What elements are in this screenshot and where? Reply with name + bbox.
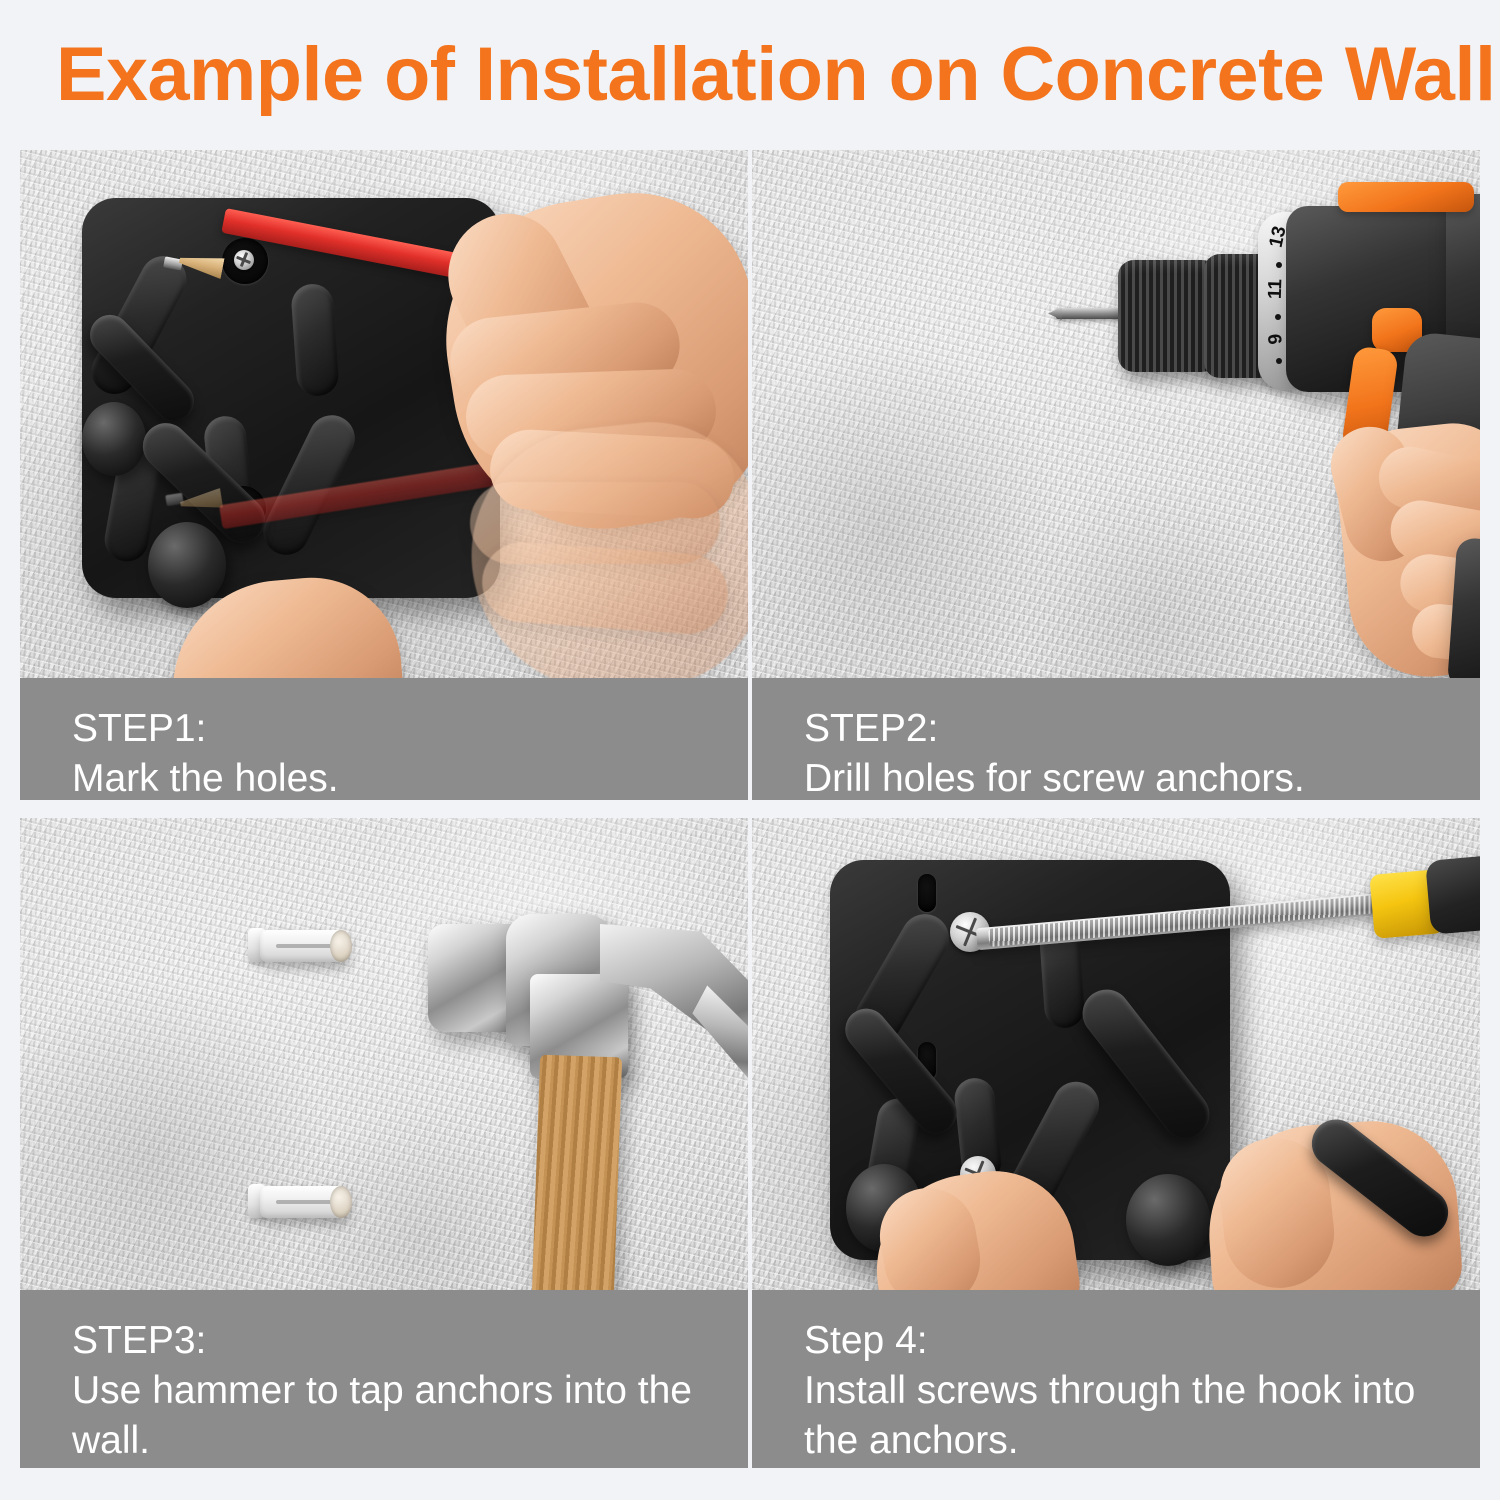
step-2-text: Drill holes for screw anchors. — [804, 754, 1480, 800]
step-3-caption: STEP3: Use hammer to tap anchors into th… — [20, 1290, 748, 1468]
step-2-caption: STEP2: Drill holes for screw anchors. — [752, 678, 1480, 800]
step-3-photo — [20, 818, 748, 1290]
anchor-slit — [276, 1200, 338, 1204]
step-4-photo — [752, 818, 1480, 1290]
anchor-bore-lower — [330, 1186, 352, 1218]
step-panel-1: STEP1: Mark the holes. — [20, 150, 748, 800]
concrete-wall-texture — [20, 818, 748, 1290]
step-4-caption: Step 4: Install screws through the hook … — [752, 1290, 1480, 1468]
clutch-number-11: 11 — [1265, 279, 1288, 300]
step-panel-2: 13 11 9 STEP2: Drill — [752, 150, 1480, 800]
step-3-text: Use hammer to tap anchors into the wall. — [72, 1366, 748, 1466]
step-panel-4: Step 4: Install screws through the hook … — [752, 818, 1480, 1468]
anchor-bore-upper — [330, 930, 352, 962]
page-title: Example of Installation on Concrete Wall — [56, 30, 1439, 120]
step-4-label: Step 4: — [804, 1316, 1480, 1366]
clutch-dot — [1276, 262, 1282, 268]
hammer-handle — [532, 1055, 622, 1290]
step-1-label: STEP1: — [72, 704, 748, 754]
step-1-photo — [20, 150, 748, 678]
step-4-text: Install screws through the hook into the… — [804, 1366, 1480, 1466]
hook-knob-lower — [148, 522, 226, 608]
anchor-slit — [276, 944, 338, 948]
step-1-text: Mark the holes. — [72, 754, 748, 800]
steps-grid: STEP1: Mark the holes. 13 11 9 — [20, 150, 1480, 1468]
hook-knob-upper — [82, 402, 146, 476]
drill-bit — [1056, 308, 1122, 319]
step-panel-3: STEP3: Use hammer to tap anchors into th… — [20, 818, 748, 1468]
hook-knob-right — [1126, 1174, 1210, 1266]
marking-point-top — [234, 250, 254, 270]
clutch-dot — [1276, 358, 1282, 364]
step-1-caption: STEP1: Mark the holes. — [20, 678, 748, 800]
step-3-label: STEP3: — [72, 1316, 748, 1366]
step-2-label: STEP2: — [804, 704, 1480, 754]
ghost-finger — [480, 540, 731, 637]
drill-top-accent — [1338, 182, 1474, 212]
drill-chuck — [1118, 260, 1218, 372]
clutch-dot — [1275, 314, 1281, 320]
plate-slot-top — [918, 874, 936, 912]
plate-bump — [290, 283, 340, 398]
step-2-photo: 13 11 9 — [752, 150, 1480, 678]
